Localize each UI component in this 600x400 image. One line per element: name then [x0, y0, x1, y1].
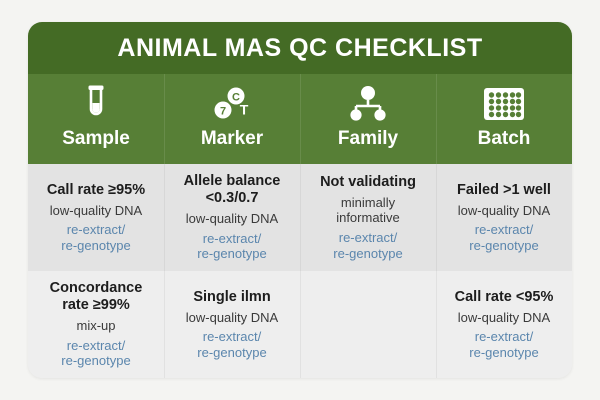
cell-action[interactable]: re-extract/re-genotype	[469, 329, 538, 360]
cell-sample-2[interactable]: Concordancerate ≥99% mix-up re-extract/r…	[28, 271, 164, 378]
snp-allele-icon: C 7 T	[210, 83, 254, 125]
column-header-family[interactable]: Family	[300, 74, 436, 164]
cell-title: Call rate <95%	[455, 289, 554, 306]
cell-issue: low-quality DNA	[458, 203, 550, 219]
column-header-sample[interactable]: Sample	[28, 74, 164, 164]
cell-batch-2[interactable]: Call rate <95% low-quality DNA re-extrac…	[436, 271, 572, 378]
column-header-label: Family	[338, 129, 398, 148]
cell-family-2	[300, 271, 436, 378]
column-header-marker[interactable]: C 7 T Marker	[164, 74, 300, 164]
cell-issue: low-quality DNA	[458, 310, 550, 326]
column-header-batch[interactable]: Batch	[436, 74, 572, 164]
cell-title: Allele balance<0.3/0.7	[184, 173, 281, 207]
card-title-bar: ANIMAL MAS QC CHECKLIST	[28, 22, 572, 74]
test-tube-icon	[83, 83, 109, 125]
cell-action[interactable]: re-extract/re-genotype	[333, 230, 402, 261]
column-header-label: Marker	[201, 129, 263, 148]
cell-batch-1[interactable]: Failed >1 well low-quality DNA re-extrac…	[436, 164, 572, 271]
column-header-label: Sample	[62, 129, 130, 148]
svg-text:T: T	[240, 102, 249, 118]
table-row: Call rate ≥95% low-quality DNA re-extrac…	[28, 164, 572, 271]
cell-issue: low-quality DNA	[50, 203, 142, 219]
well-plate-icon	[483, 83, 525, 125]
cell-issue: low-quality DNA	[186, 310, 278, 326]
cell-title: Single ilmn	[193, 289, 270, 306]
svg-text:7: 7	[220, 105, 226, 117]
cell-issue: low-quality DNA	[186, 211, 278, 227]
cell-action[interactable]: re-extract/re-genotype	[61, 222, 130, 253]
column-header-band: Sample C 7 T Marker	[28, 74, 572, 164]
cell-issue: minimallyinformative	[336, 195, 400, 226]
cell-title: Not validating	[320, 174, 416, 191]
pedigree-tree-icon	[347, 83, 389, 125]
checklist-body: Call rate ≥95% low-quality DNA re-extrac…	[28, 164, 572, 378]
page-title: ANIMAL MAS QC CHECKLIST	[117, 36, 482, 61]
cell-family-1[interactable]: Not validating minimallyinformative re-e…	[300, 164, 436, 271]
cell-title: Call rate ≥95%	[47, 182, 145, 199]
qc-checklist-card: ANIMAL MAS QC CHECKLIST Sample C 7 T	[28, 22, 572, 378]
cell-marker-1[interactable]: Allele balance<0.3/0.7 low-quality DNA r…	[164, 164, 300, 271]
cell-action[interactable]: re-extract/re-genotype	[61, 338, 130, 369]
cell-action[interactable]: re-extract/re-genotype	[197, 329, 266, 360]
cell-action[interactable]: re-extract/re-genotype	[197, 231, 266, 262]
cell-marker-2[interactable]: Single ilmn low-quality DNA re-extract/r…	[164, 271, 300, 378]
table-row: Concordancerate ≥99% mix-up re-extract/r…	[28, 271, 572, 378]
cell-title: Concordancerate ≥99%	[50, 280, 143, 314]
column-header-label: Batch	[478, 129, 531, 148]
cell-sample-1[interactable]: Call rate ≥95% low-quality DNA re-extrac…	[28, 164, 164, 271]
cell-issue: mix-up	[76, 318, 115, 334]
cell-title: Failed >1 well	[457, 182, 551, 199]
cell-action[interactable]: re-extract/re-genotype	[469, 222, 538, 253]
